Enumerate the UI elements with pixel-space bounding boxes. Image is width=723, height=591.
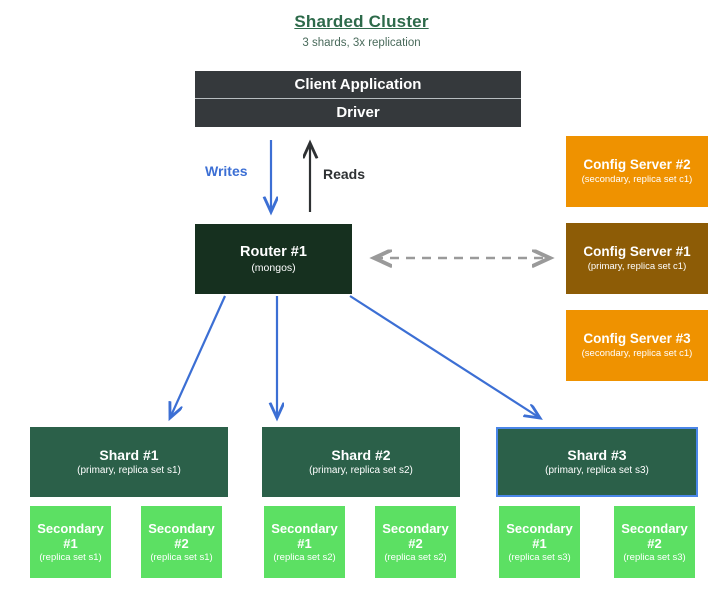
shard-2-secondary-1-box[interactable]: Secondary #1 (replica set s2) [264, 506, 345, 578]
shard-1-secondary-2-title: Secondary [148, 521, 214, 536]
shard-2-subtitle: (primary, replica set s2) [309, 465, 413, 477]
shard-1-secondary-1-number: #1 [63, 536, 77, 551]
shard-3-secondary-2-title: Secondary [621, 521, 687, 536]
router-title: Router #1 [240, 244, 307, 261]
driver-box[interactable]: Driver [195, 99, 521, 127]
shard-1-title: Shard #1 [99, 447, 158, 464]
shard-3-secondary-1-subtitle: (replica set s3) [508, 552, 570, 563]
shard-1-subtitle: (primary, replica set s1) [77, 465, 181, 477]
shard-1-box[interactable]: Shard #1 (primary, replica set s1) [30, 427, 228, 497]
shard-3-secondary-1-box[interactable]: Secondary #1 (replica set s3) [499, 506, 580, 578]
page-subtitle: 3 shards, 3x replication [0, 37, 723, 49]
shard-2-title: Shard #2 [331, 447, 390, 464]
shard-1-secondary-1-box[interactable]: Secondary #1 (replica set s1) [30, 506, 111, 578]
shard-3-box[interactable]: Shard #3 (primary, replica set s3) [496, 427, 698, 497]
shard-3-secondary-1-number: #1 [532, 536, 546, 551]
writes-label: Writes [205, 163, 248, 179]
router-box[interactable]: Router #1 (mongos) [195, 224, 352, 294]
shard-2-secondary-1-subtitle: (replica set s2) [273, 552, 335, 563]
config-server-1-box[interactable]: Config Server #1 (primary, replica set c… [566, 223, 708, 294]
shard-3-subtitle: (primary, replica set s3) [545, 465, 649, 477]
config-server-1-title: Config Server #1 [583, 244, 690, 260]
shard-3-secondary-2-box[interactable]: Secondary #2 (replica set s3) [614, 506, 695, 578]
shard-2-secondary-2-title: Secondary [382, 521, 448, 536]
config-server-3-box[interactable]: Config Server #3 (secondary, replica set… [566, 310, 708, 381]
client-application-box[interactable]: Client Application [195, 71, 521, 99]
shard-1-secondary-1-title: Secondary [37, 521, 103, 536]
page-title: Sharded Cluster [0, 12, 723, 32]
shard-3-secondary-2-subtitle: (replica set s3) [623, 552, 685, 563]
shard-2-secondary-2-subtitle: (replica set s2) [384, 552, 446, 563]
config-server-2-title: Config Server #2 [583, 157, 690, 173]
config-server-1-subtitle: (primary, replica set c1) [588, 261, 687, 272]
shard-3-secondary-2-number: #2 [647, 536, 661, 551]
router-to-shard-3-arrow [350, 296, 540, 418]
router-to-shard-1-arrow [170, 296, 225, 418]
shard-1-secondary-2-box[interactable]: Secondary #2 (replica set s1) [141, 506, 222, 578]
config-server-3-subtitle: (secondary, replica set c1) [582, 348, 693, 359]
reads-label: Reads [323, 166, 365, 182]
shard-2-secondary-2-box[interactable]: Secondary #2 (replica set s2) [375, 506, 456, 578]
shard-3-title: Shard #3 [567, 447, 626, 464]
config-server-3-title: Config Server #3 [583, 331, 690, 347]
shard-3-secondary-1-title: Secondary [506, 521, 572, 536]
client-application-label: Client Application [295, 76, 422, 94]
router-subtitle: (mongos) [251, 262, 295, 274]
diagram-canvas: Sharded Cluster 3 shards, 3x replication [0, 0, 723, 591]
shard-2-box[interactable]: Shard #2 (primary, replica set s2) [262, 427, 460, 497]
shard-2-secondary-1-title: Secondary [271, 521, 337, 536]
shard-1-secondary-2-number: #2 [174, 536, 188, 551]
driver-label: Driver [336, 104, 379, 122]
config-server-2-subtitle: (secondary, replica set c1) [582, 174, 693, 185]
shard-1-secondary-2-subtitle: (replica set s1) [150, 552, 212, 563]
config-server-2-box[interactable]: Config Server #2 (secondary, replica set… [566, 136, 708, 207]
shard-2-secondary-1-number: #1 [297, 536, 311, 551]
shard-2-secondary-2-number: #2 [408, 536, 422, 551]
shard-1-secondary-1-subtitle: (replica set s1) [39, 552, 101, 563]
